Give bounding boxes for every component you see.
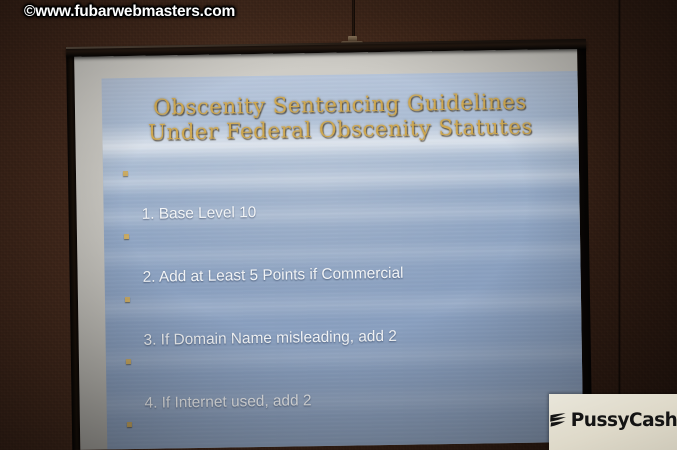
pussycash-swoosh-icon (549, 411, 569, 429)
pussycash-logo-text: PussyCash (571, 410, 677, 431)
photo-vignette (0, 0, 677, 450)
copyright-watermark: ©www.fubarwebmasters.com (24, 3, 235, 21)
presentation-photo-scene: Obscenity Sentencing Guidelines Under Fe… (0, 0, 677, 450)
pussycash-logo-inner: PussyCash (549, 410, 677, 431)
pussycash-logo[interactable]: PussyCash (549, 394, 677, 450)
